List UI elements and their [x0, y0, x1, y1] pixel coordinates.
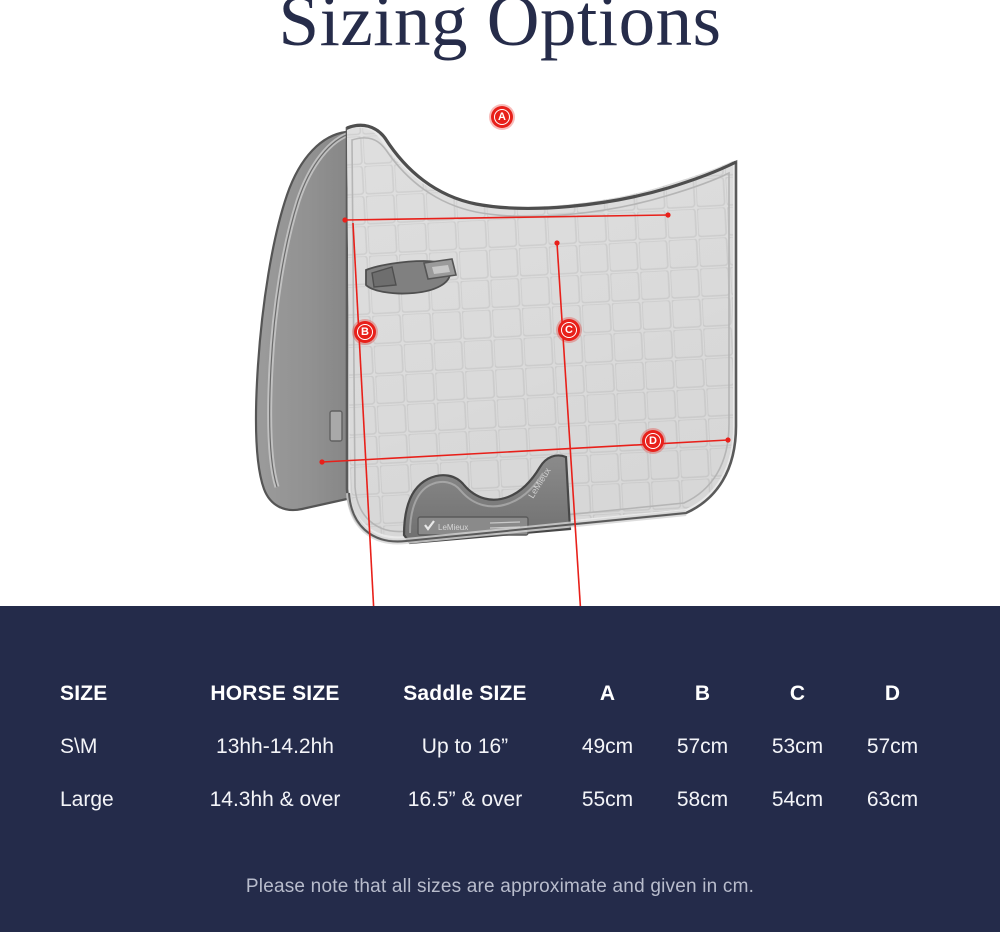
size-table: SIZE HORSE SIZE Saddle SIZE A B C D S\M …	[60, 668, 940, 826]
cell-size: Large	[60, 773, 180, 826]
marker-d-label: D	[649, 436, 657, 447]
saddle-pad-illustration: LeMieux LeMieux	[0, 95, 1000, 606]
column-header-saddle-size: Saddle SIZE	[370, 668, 560, 720]
table-row: S\M 13hh-14.2hh Up to 16” 49cm 57cm 53cm…	[60, 720, 940, 773]
column-header-c: C	[750, 668, 845, 720]
page-title: Sizing Options	[0, 0, 1000, 60]
brand-badge-icon	[424, 259, 456, 279]
cell-a: 49cm	[560, 720, 655, 773]
title-area: Sizing Options	[0, 0, 1000, 95]
marker-b-label: B	[361, 327, 369, 338]
cell-c: 53cm	[750, 720, 845, 773]
table-row: Large 14.3hh & over 16.5” & over 55cm 58…	[60, 773, 940, 826]
sizing-options-page: Sizing Options	[0, 0, 1000, 932]
size-table-panel: SIZE HORSE SIZE Saddle SIZE A B C D S\M …	[0, 606, 1000, 932]
cell-b: 58cm	[655, 773, 750, 826]
measurement-marker-b: B	[354, 321, 376, 343]
pad-underside-wing	[256, 132, 356, 510]
cell-d: 63cm	[845, 773, 940, 826]
cell-a: 55cm	[560, 773, 655, 826]
column-header-d: D	[845, 668, 940, 720]
cell-d: 57cm	[845, 720, 940, 773]
table-footnote: Please note that all sizes are approxima…	[0, 876, 1000, 898]
cell-b: 57cm	[655, 720, 750, 773]
measurement-marker-c: C	[558, 319, 580, 341]
table-header-row: SIZE HORSE SIZE Saddle SIZE A B C D	[60, 668, 940, 720]
cell-saddle-size: Up to 16”	[370, 720, 560, 773]
column-header-horse-size: HORSE SIZE	[180, 668, 370, 720]
side-tag	[330, 411, 342, 441]
column-header-a: A	[560, 668, 655, 720]
marker-a-label: A	[498, 112, 506, 123]
measurement-marker-d: D	[642, 430, 664, 452]
cell-horse-size: 13hh-14.2hh	[180, 720, 370, 773]
measurement-marker-a: A	[491, 106, 513, 128]
column-header-size: SIZE	[60, 668, 180, 720]
saddle-pad-diagram: LeMieux LeMieux	[0, 95, 1000, 606]
marker-c-label: C	[565, 325, 573, 336]
cell-horse-size: 14.3hh & over	[180, 773, 370, 826]
cell-saddle-size: 16.5” & over	[370, 773, 560, 826]
column-header-b: B	[655, 668, 750, 720]
svg-text:LeMieux: LeMieux	[438, 523, 468, 532]
cell-c: 54cm	[750, 773, 845, 826]
cell-size: S\M	[60, 720, 180, 773]
